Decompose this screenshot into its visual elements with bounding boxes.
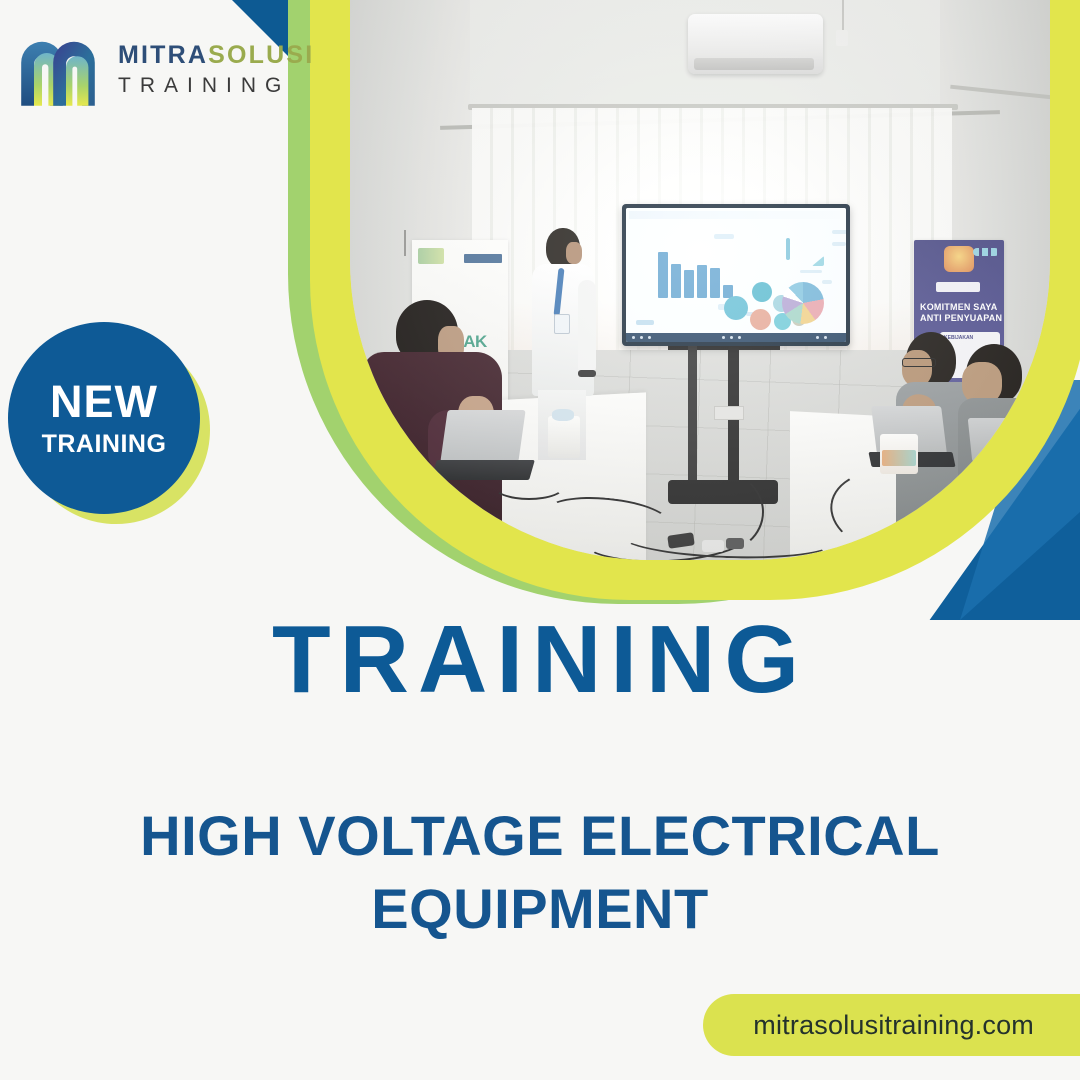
website-pill[interactable]: mitrasolusitraining.com — [703, 994, 1080, 1056]
presenter-face — [566, 242, 582, 264]
presenter-arm — [578, 280, 596, 376]
brand-logo-training: TRAINING — [118, 75, 314, 96]
dashboard-chart — [626, 208, 846, 342]
photo-scene: AKHLAK Core Values Amanah KOMITMEN SAYA — [350, 0, 1050, 560]
brand-logo-solusi: SOLUSI — [208, 43, 314, 68]
dashboard-chip-8 — [822, 280, 832, 284]
presenter-id-badge — [554, 314, 570, 334]
page-subtitle: HIGH VOLTAGE ELECTRICAL EQUIPMENT — [90, 800, 990, 946]
badge-line-new: NEW — [50, 379, 158, 424]
photo-frame-block: AKHLAK Core Values Amanah KOMITMEN SAYA — [232, 0, 1080, 620]
banner-right-line2: ANTI PENYUAPAN — [920, 313, 1004, 324]
bubble-node-2 — [752, 282, 772, 302]
banner-left-logo — [464, 254, 502, 263]
laptop-left-screen — [440, 410, 525, 462]
participant-right-1-face — [902, 350, 932, 386]
brand-logo-text: MITRASOLUSI TRAINING — [118, 43, 314, 96]
brand-logo-mitra: MITRA — [118, 43, 208, 68]
banner-right-logo — [936, 282, 980, 292]
brand-logo-row1: MITRASOLUSI — [118, 43, 314, 68]
ceiling-fixture — [836, 30, 848, 46]
dashboard-chip-9 — [636, 320, 654, 325]
double-arch-m-logo-icon — [18, 30, 106, 108]
banner-left-stand — [404, 230, 406, 256]
dashboard-chip-7 — [832, 242, 846, 246]
tissue-box-right — [880, 434, 918, 474]
training-photo: AKHLAK Core Values Amanah KOMITMEN SAYA — [350, 0, 1050, 560]
new-training-badge[interactable]: NEW TRAINING — [8, 322, 220, 544]
laptop-left — [434, 410, 526, 478]
banner-right-line1: KOMITMEN SAYA — [920, 302, 1004, 313]
laptop-right-2 — [970, 418, 1042, 474]
wall-socket — [714, 406, 744, 420]
floor-cable-6 — [492, 470, 566, 500]
bubble-node-1 — [724, 296, 748, 320]
tissue-box-left — [548, 416, 580, 458]
website-url: mitrasolusitraining.com — [753, 1010, 1034, 1041]
bar-chart-icon — [658, 244, 733, 298]
presenter-watch — [578, 370, 596, 377]
banner-left-graphic — [418, 248, 444, 264]
poster-canvas: AKHLAK Core Values Amanah KOMITMEN SAYA — [0, 0, 1080, 1080]
dashboard-chip-4 — [786, 238, 790, 260]
bubble-node-4 — [750, 309, 771, 330]
banner-right-heading: KOMITMEN SAYA ANTI PENYUAPAN — [920, 302, 1004, 324]
dashboard-chip-6 — [832, 230, 846, 234]
badge-circle: NEW TRAINING — [8, 322, 200, 514]
brand-logo[interactable]: MITRASOLUSI TRAINING — [18, 30, 314, 108]
display-screen — [626, 208, 846, 342]
page-title: TRAINING — [0, 612, 1080, 708]
glasses-icon — [902, 358, 936, 367]
banner-right-dots — [973, 248, 999, 256]
power-adapter-2 — [702, 540, 724, 552]
smart-display — [622, 204, 850, 346]
display-taskbar — [626, 333, 846, 342]
dashboard-chip-1 — [714, 234, 734, 239]
laptop-right-2-screen — [968, 418, 1039, 462]
dashboard-toolbar — [629, 211, 840, 219]
pie-chart-icon — [782, 282, 824, 324]
dashboard-chip-5 — [812, 256, 824, 266]
banner-right-illustration — [944, 246, 974, 272]
dashboard-chip-10 — [800, 270, 822, 273]
air-conditioner-vent — [694, 58, 814, 70]
badge-line-training: TRAINING — [42, 432, 167, 457]
power-adapter-3 — [726, 538, 744, 549]
